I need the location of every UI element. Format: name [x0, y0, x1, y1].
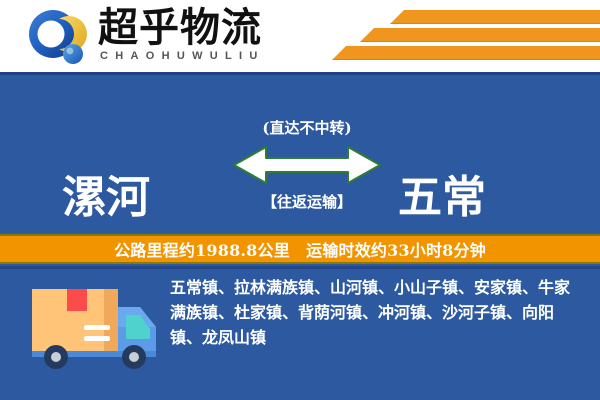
logistics-route-banner: 超乎物流 CHAOHUWULIU 漯河 (直达不中转) 【往返运输】 五常 公路… — [0, 0, 600, 400]
stripe-3 — [332, 46, 600, 60]
direct-shipping-label: (直达不中转) — [232, 117, 382, 138]
brand-name-en: CHAOHUWULIU — [100, 50, 265, 62]
circle-q-crescent-logo-icon — [26, 9, 88, 67]
covered-towns-list: 五常镇、拉林满族镇、山河镇、小山子镇、安家镇、牛家满族镇、杜家镇、背荫河镇、冲河… — [170, 275, 582, 350]
delivery-truck-icon — [22, 277, 162, 369]
route-section: 漯河 (直达不中转) 【往返运输】 五常 — [0, 75, 600, 228]
stripe-1 — [390, 10, 600, 24]
route-arrow-group: (直达不中转) 【往返运输】 — [232, 117, 382, 217]
origin-city: 漯河 — [62, 176, 150, 220]
header-stripes-decoration — [330, 8, 600, 66]
banner-header: 超乎物流 CHAOHUWULIU — [0, 0, 600, 72]
distance-duration-bar: 公路里程约1988.8公里 运输时效约33小时8分钟 — [0, 234, 600, 264]
brand-logo: 超乎物流 CHAOHUWULIU — [26, 6, 326, 68]
double-headed-arrow-icon — [232, 143, 382, 187]
brand-name-cn: 超乎物流 — [98, 4, 262, 52]
coverage-section: 五常镇、拉林满族镇、山河镇、小山子镇、安家镇、牛家满族镇、杜家镇、背荫河镇、冲河… — [0, 269, 600, 400]
destination-city: 五常 — [398, 176, 486, 220]
round-trip-label: 【往返运输】 — [232, 191, 382, 212]
stripe-2 — [360, 28, 600, 42]
distance-duration-text: 公路里程约1988.8公里 运输时效约33小时8分钟 — [114, 237, 486, 261]
